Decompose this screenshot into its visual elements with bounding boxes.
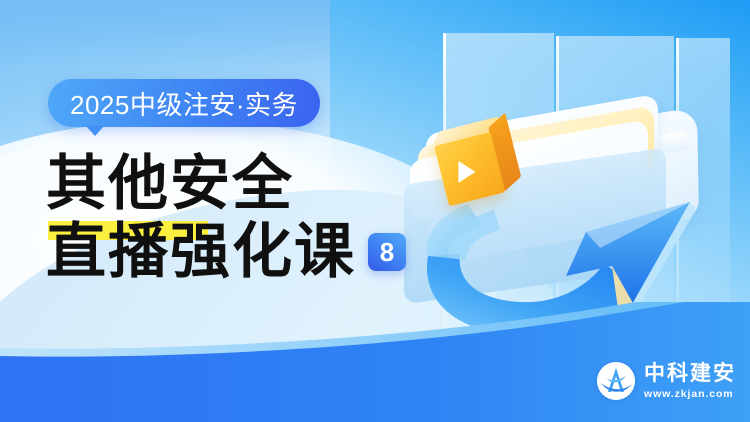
course-tag-label: 2025中级注安·实务 (70, 85, 298, 122)
course-banner: 2025中级注安·实务 其他安全 直播强化课 8 中科建安 www.zkjan.… (0, 0, 750, 422)
tag-pointer-tail (86, 126, 104, 136)
illustration (420, 96, 740, 336)
title-line-2: 直播强化课 (46, 218, 356, 286)
title-line-1: 其他安全 (46, 150, 466, 218)
brand-text: 中科建安 www.zkjan.com (644, 363, 736, 400)
title-line-2-row: 直播强化课 8 (46, 218, 466, 286)
zkjan-circle-logo-icon (597, 362, 635, 400)
title-block: 其他安全 直播强化课 8 (46, 150, 466, 286)
brand-name: 中科建安 (644, 363, 736, 384)
brand-logo: 中科建安 www.zkjan.com (597, 362, 736, 400)
course-tag-badge: 2025中级注安·实务 (48, 79, 320, 127)
episode-number-badge: 8 (368, 233, 406, 271)
brand-url: www.zkjan.com (644, 389, 736, 400)
